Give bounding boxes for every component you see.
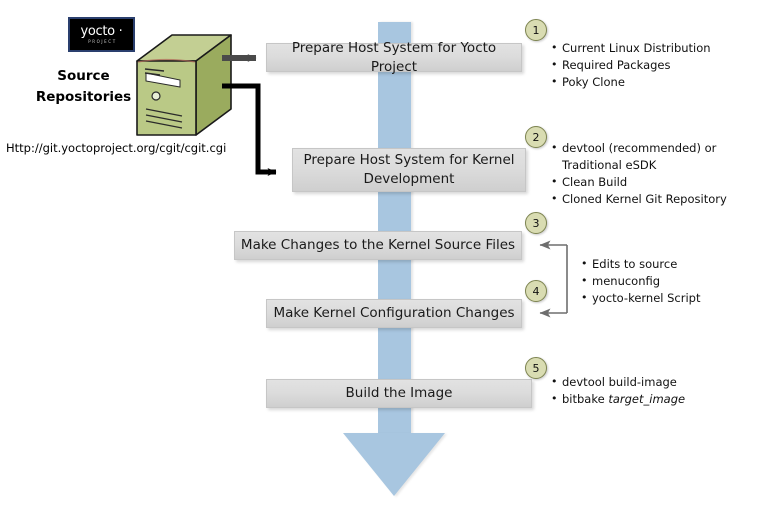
yocto-logo-wordmark: yocto · [80,25,122,38]
source-repositories-label-line2: Repositories [26,87,141,108]
process-box-step-3-label: Make Changes to the Kernel Source Files [241,236,515,255]
bullet-list-step-1: Current Linux Distribution Required Pack… [551,40,763,91]
step-number-badge-5: 5 [525,357,547,379]
connector-bracket-steps-3-4 [540,245,567,313]
flow-arrowhead-icon [343,433,445,496]
list-item: Poky Clone [551,74,763,91]
process-box-step-2-label-line2: Development [364,171,455,187]
process-box-step-4-label: Make Kernel Configuration Changes [273,304,514,323]
list-item: Current Linux Distribution [551,40,763,57]
list-item: menuconfig [581,273,756,290]
process-box-step-4[interactable]: Make Kernel Configuration Changes [266,299,522,328]
process-box-step-1-label: Prepare Host System for Yocto Project [267,39,521,77]
bullet-list-steps-3-4: Edits to source menuconfig yocto-kernel … [581,256,756,307]
list-item: Required Packages [551,57,763,74]
yocto-logo-subtext: PROJECT [88,39,116,45]
list-item: devtool build-image [551,374,756,391]
list-item: devtool (recommended) or Traditional eSD… [551,140,751,174]
list-item: Clean Build [551,174,751,191]
list-item: bitbake target_image [551,391,756,408]
step-number-badge-1: 1 [525,19,547,41]
yocto-project-logo: yocto · PROJECT [68,17,135,52]
process-box-step-3[interactable]: Make Changes to the Kernel Source Files [234,231,522,260]
process-box-step-5[interactable]: Build the Image [266,379,532,408]
list-item: yocto-kernel Script [581,290,756,307]
flow-band [378,22,411,434]
list-item-text: bitbake [562,392,608,406]
diagram-canvas: yocto · PROJECT Source Repositories Http… [0,0,769,517]
bullet-list-step-2: devtool (recommended) or Traditional eSD… [551,140,751,208]
process-box-step-2-label-line1: Prepare Host System for Kernel [303,152,514,168]
list-item: Cloned Kernel Git Repository [551,191,751,208]
server-tower-icon [134,33,234,138]
process-box-step-2-label: Prepare Host System for Kernel Developme… [303,151,514,189]
source-repositories-label: Source Repositories [26,66,141,108]
bullet-list-step-5: devtool build-image bitbake target_image [551,374,756,408]
step-number-badge-3: 3 [525,212,547,234]
process-box-step-1[interactable]: Prepare Host System for Yocto Project [266,43,522,72]
step-number-badge-4: 4 [525,280,547,302]
list-item: Edits to source [581,256,756,273]
source-repositories-url: Http://git.yoctoproject.org/cgit/cgit.cg… [6,141,226,155]
process-box-step-5-label: Build the Image [346,384,453,403]
step-number-badge-2: 2 [525,126,547,148]
source-repositories-label-line1: Source [26,66,141,87]
list-item-emphasis: target_image [608,392,685,406]
process-box-step-2[interactable]: Prepare Host System for Kernel Developme… [292,148,526,192]
